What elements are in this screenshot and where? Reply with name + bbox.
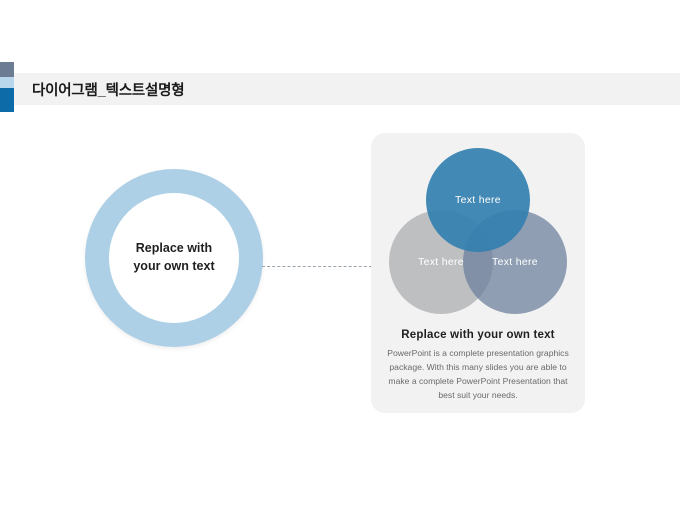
ring-inner-shape: Replace with your own text xyxy=(109,193,239,323)
venn-circle-right-label: Text here xyxy=(492,256,538,268)
right-content-panel[interactable]: Text here Text here Text here Replace wi… xyxy=(371,133,585,413)
panel-body-text: PowerPoint is a complete presentation gr… xyxy=(383,347,573,403)
header-accent-bar xyxy=(0,62,14,112)
accent-segment-middle xyxy=(0,77,14,88)
venn-diagram: Text here Text here Text here xyxy=(389,148,567,323)
dashed-connector-line xyxy=(262,266,372,268)
venn-circle-top[interactable]: Text here xyxy=(426,148,530,252)
venn-circle-top-label: Text here xyxy=(455,194,501,206)
ring-label: Replace with your own text xyxy=(133,240,214,276)
venn-circle-left-label: Text here xyxy=(418,256,464,268)
accent-segment-top xyxy=(0,62,14,77)
panel-heading: Replace with your own text xyxy=(381,329,575,341)
accent-segment-bottom xyxy=(0,88,14,112)
left-ring-diagram[interactable]: Replace with your own text xyxy=(85,188,263,328)
page-title: 다이어그램_텍스트설명형 xyxy=(32,79,184,100)
